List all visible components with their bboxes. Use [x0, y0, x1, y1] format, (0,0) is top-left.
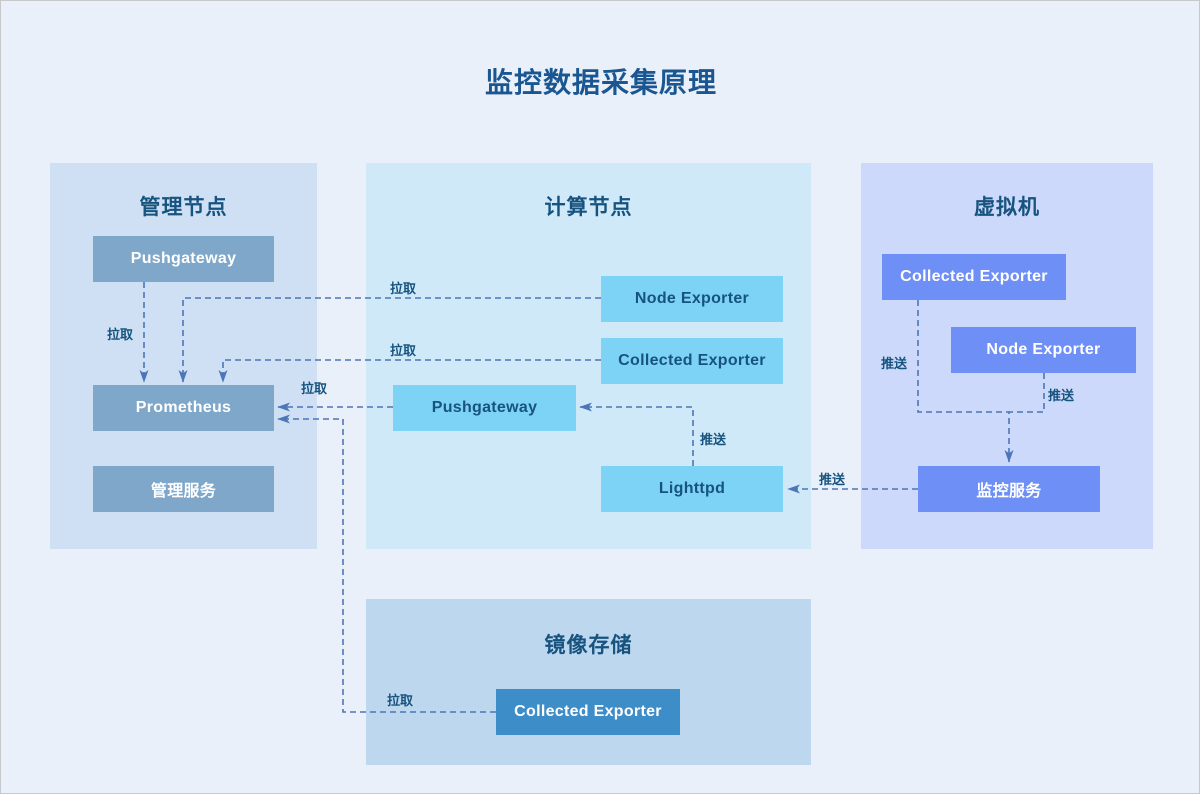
wire-label-collected-exporter-pull: 拉取 — [390, 340, 416, 359]
diagram-canvas: 监控数据采集原理 管理节点 计算节点 虚拟机 镜像存储 — [0, 0, 1200, 794]
node-vm-monitor-service[interactable]: 监控服务 — [918, 466, 1100, 512]
node-mgmt-prometheus[interactable]: Prometheus — [93, 385, 274, 431]
node-compute-node-exporter[interactable]: Node Exporter — [601, 276, 783, 322]
panel-image-store: 镜像存储 — [366, 599, 811, 765]
wire-label-compute-pushgateway-pull: 拉取 — [301, 378, 327, 397]
panel-image-store-title: 镜像存储 — [366, 629, 811, 659]
wire-label-lighttpd-push: 推送 — [700, 429, 726, 448]
node-image-store-collected-exporter[interactable]: Collected Exporter — [496, 689, 680, 735]
panel-management-title: 管理节点 — [50, 191, 317, 221]
wire-label-monitor-service-push: 推送 — [819, 469, 845, 488]
wire-label-vm-node-exporter-push: 推送 — [1048, 385, 1074, 404]
wire-label-vm-collected-exporter-push: 推送 — [881, 353, 907, 372]
node-mgmt-management-service[interactable]: 管理服务 — [93, 466, 274, 512]
wire-label-node-exporter-pull: 拉取 — [390, 278, 416, 297]
node-compute-collected-exporter[interactable]: Collected Exporter — [601, 338, 783, 384]
wire-label-pushgateway-pull: 拉取 — [107, 324, 133, 343]
node-compute-pushgateway[interactable]: Pushgateway — [393, 385, 576, 431]
panel-compute-title: 计算节点 — [366, 191, 811, 221]
wire-label-image-store-pull: 拉取 — [387, 690, 413, 709]
panel-vm-title: 虚拟机 — [861, 191, 1153, 221]
node-compute-lighttpd[interactable]: Lighttpd — [601, 466, 783, 512]
node-vm-collected-exporter[interactable]: Collected Exporter — [882, 254, 1066, 300]
node-vm-node-exporter[interactable]: Node Exporter — [951, 327, 1136, 373]
node-mgmt-pushgateway[interactable]: Pushgateway — [93, 236, 274, 282]
page-title: 监控数据采集原理 — [1, 61, 1200, 101]
